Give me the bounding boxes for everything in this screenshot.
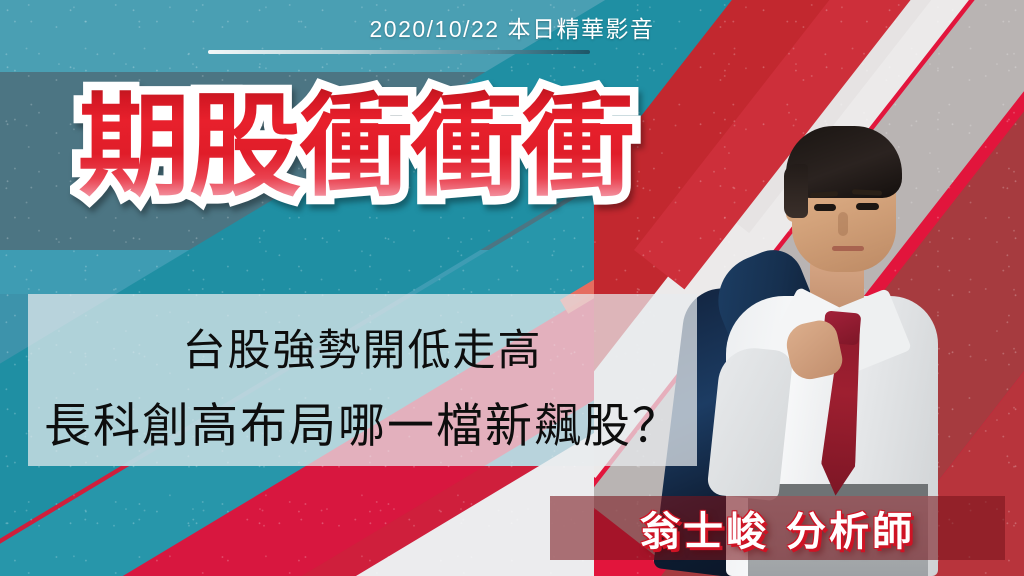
mouth: [832, 246, 864, 251]
header-divider-rule: [208, 50, 590, 54]
eye-left: [814, 204, 836, 211]
header-date-text: 2020/10/22 本日精華影音: [0, 10, 1024, 44]
thumbnail-canvas: 2020/10/22 本日精華影音 期股衝衝衝 期股衝衝衝 台股強勢開低走高 長…: [0, 0, 1024, 576]
hair-sideburn: [784, 164, 808, 218]
subtitle-panel: 台股強勢開低走高 長科創高布局哪一檔新飆股？: [28, 294, 697, 466]
main-title: 期股衝衝衝 期股衝衝衝: [78, 88, 633, 207]
subtitle-line-2: 長科創高布局哪一檔新飆股？: [28, 387, 697, 456]
nose: [838, 212, 848, 236]
main-title-fill: 期股衝衝衝: [78, 82, 633, 212]
eye-right: [856, 203, 879, 210]
presenter-name-text: 翁士峻 分析師: [550, 497, 1005, 559]
subtitle-line-1: 台股強勢開低走高: [28, 316, 697, 378]
